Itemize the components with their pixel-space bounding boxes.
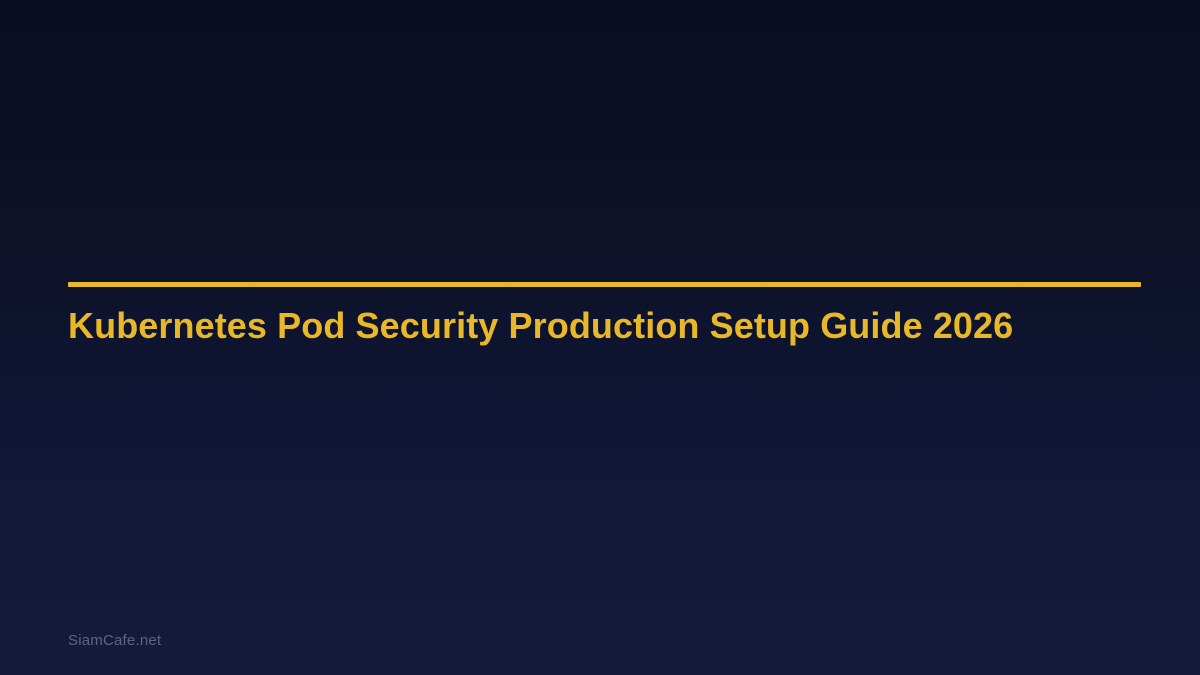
page-title: Kubernetes Pod Security Production Setup…	[68, 287, 1141, 346]
slide-canvas: Kubernetes Pod Security Production Setup…	[0, 0, 1200, 675]
title-block: Kubernetes Pod Security Production Setup…	[68, 282, 1141, 346]
footer-brand-label: SiamCafe.net	[68, 632, 161, 649]
footer: SiamCafe.net	[68, 629, 161, 651]
